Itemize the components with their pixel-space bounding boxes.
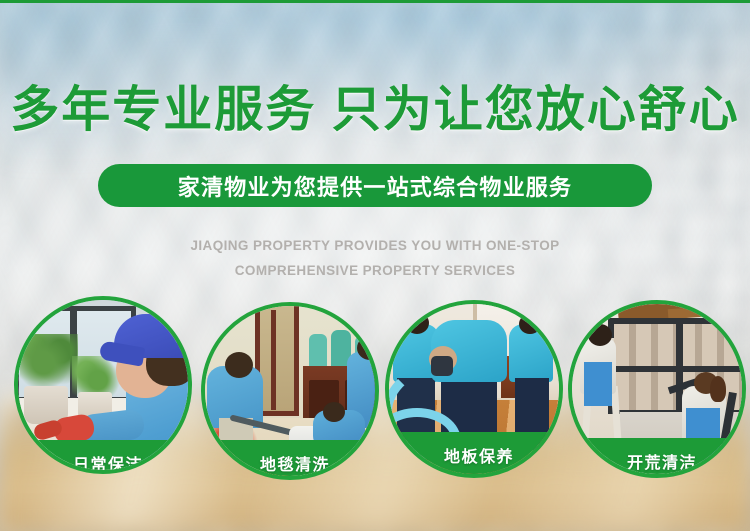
service-label-rough-cleaning: 开荒清洁 (568, 438, 746, 478)
service-label-daily-cleaning: 日常保洁 (14, 440, 192, 474)
service-label-floor-maintenance: 地板保养 (385, 432, 563, 478)
service-label-text: 地毯清洗 (260, 451, 330, 475)
service-circles-row: 日常保洁 (0, 0, 750, 531)
service-label-text: 开荒清洁 (627, 449, 697, 473)
service-circle-rough-cleaning[interactable]: 开荒清洁 (568, 300, 746, 478)
service-label-carpet-cleaning: 地毯清洗 (201, 440, 379, 480)
service-circle-floor-maintenance[interactable]: 地板保养 (385, 300, 563, 478)
service-label-text: 地板保养 (444, 443, 514, 467)
service-banner: 多年专业服务 只为让您放心舒心 家清物业为您提供一站式综合物业服务 JIAQIN… (0, 0, 750, 531)
service-circle-carpet-cleaning[interactable]: 地毯清洗 (201, 302, 379, 480)
service-label-text: 日常保洁 (73, 451, 143, 474)
service-circle-daily-cleaning[interactable]: 日常保洁 (14, 296, 192, 474)
